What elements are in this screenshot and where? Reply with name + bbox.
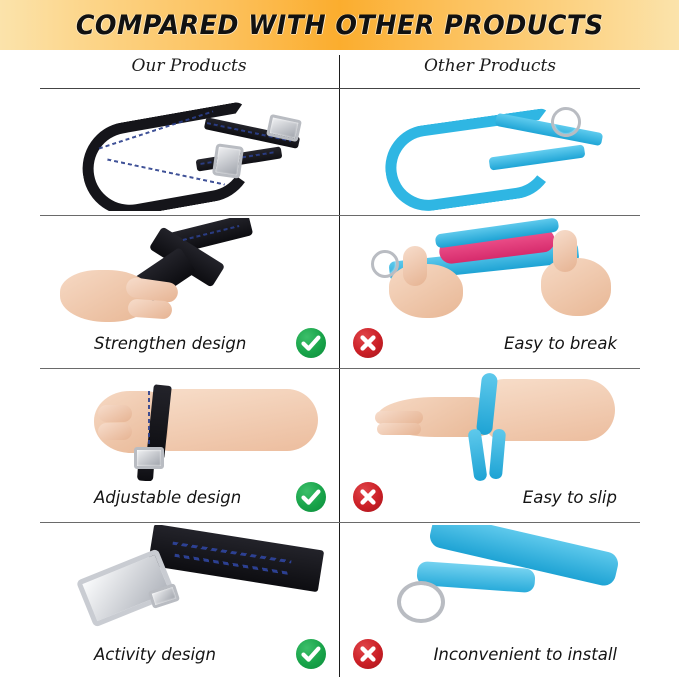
caption-label: Easy to slip <box>523 488 617 507</box>
check-circle-icon <box>296 639 326 669</box>
caption-label: Inconvenient to install <box>434 645 617 664</box>
check-circle-icon <box>296 328 326 358</box>
cross-circle-icon <box>353 639 383 669</box>
product-photo-hands-tearing-blue-strap <box>341 218 639 326</box>
caption-label: Activity design <box>94 645 216 664</box>
product-photo-hand-pulling-black-strap <box>40 218 338 326</box>
caption-label: Adjustable design <box>94 488 241 507</box>
table-row: Activity design Inconvenient to install <box>40 523 640 679</box>
cell-other-product-2: Easy to break <box>341 216 639 368</box>
comparison-grid: Our Products Other Products <box>40 50 640 679</box>
check-circle-icon <box>296 482 326 512</box>
page-title: COMPARED WITH OTHER PRODUCTS <box>76 10 604 41</box>
cell-other-product-4: Inconvenient to install <box>341 523 639 679</box>
cell-other-product-3: Easy to slip <box>341 369 639 522</box>
caption-label: Easy to break <box>504 334 617 353</box>
column-header-other-products: Other Products <box>341 56 639 76</box>
product-photo-blue-strap-slipping-off-hand <box>341 371 639 481</box>
table-row: Strengthen design <box>40 216 640 368</box>
product-photo-black-strap-metal-clip-closeup <box>40 525 338 633</box>
table-row: Adjustable design <box>40 369 640 522</box>
caption-bar: Easy to slip <box>341 480 653 514</box>
product-comparison-infographic: COMPARED WITH OTHER PRODUCTS Our Product… <box>0 0 679 679</box>
cell-our-product-3: Adjustable design <box>40 369 338 522</box>
cell-our-product-4: Activity design <box>40 523 338 679</box>
cross-circle-icon <box>353 482 383 512</box>
caption-label: Strengthen design <box>94 334 246 353</box>
product-photo-blue-strap-ring-closeup <box>341 525 639 633</box>
product-photo-blue-strap-loop <box>341 93 639 211</box>
column-header-our-products: Our Products <box>40 56 338 76</box>
cell-other-product-1 <box>341 89 639 215</box>
cell-our-product-2: Strengthen design <box>40 216 338 368</box>
table-row <box>40 89 640 215</box>
cross-circle-icon <box>353 328 383 358</box>
cell-our-product-1 <box>40 89 338 215</box>
product-photo-black-strap-on-wrist <box>40 371 338 481</box>
caption-bar: Easy to break <box>341 326 653 360</box>
header-banner: COMPARED WITH OTHER PRODUCTS <box>0 0 679 50</box>
caption-bar: Inconvenient to install <box>341 637 653 671</box>
product-photo-black-strap-loop <box>40 93 338 211</box>
